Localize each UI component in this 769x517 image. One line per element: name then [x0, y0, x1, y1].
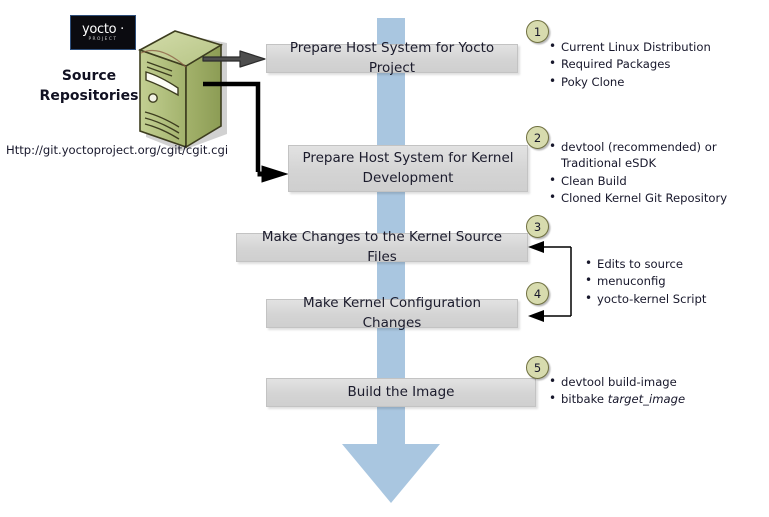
note-item: yocto-kernel Script: [585, 291, 769, 307]
note-item: Edits to source: [585, 256, 769, 272]
step-number-badge-1: 1: [526, 20, 549, 43]
source-repositories-label: Source Repositories: [34, 66, 144, 107]
note-item: bitbake target_image: [549, 391, 769, 407]
notes-list-step-2: devtool (recommended) or Traditional eSD…: [549, 139, 769, 208]
note-item: Poky Clone: [549, 74, 769, 90]
note-item: devtool (recommended) or Traditional eSD…: [549, 139, 769, 172]
workflow-arrowhead: [342, 444, 440, 503]
notes-list-step-1: Current Linux DistributionRequired Packa…: [549, 39, 769, 91]
process-box-step-4[interactable]: Make Kernel Configuration Changes: [266, 299, 518, 328]
yocto-logo-subtext: PROJECT: [88, 38, 117, 42]
note-item-emphasis: target_image: [608, 392, 685, 406]
note-item: Cloned Kernel Git Repository: [549, 190, 769, 206]
step-number-badge-5: 5: [526, 356, 549, 379]
process-box-step-1[interactable]: Prepare Host System for Yocto Project: [266, 44, 518, 73]
note-item: devtool build-image: [549, 374, 769, 390]
yocto-project-logo: yocto · PROJECT: [70, 15, 136, 50]
notes-list-step-5: devtool build-imagebitbake target_image: [549, 374, 769, 409]
note-item: Clean Build: [549, 173, 769, 189]
note-item: menuconfig: [585, 273, 769, 289]
process-box-step-3[interactable]: Make Changes to the Kernel Source Files: [236, 233, 528, 262]
source-label-line2: Repositories: [34, 86, 144, 106]
source-label-line1: Source: [34, 66, 144, 86]
process-box-step-5[interactable]: Build the Image: [266, 378, 536, 407]
source-repositories-url: Http://git.yoctoproject.org/cgit/cgit.cg…: [6, 143, 228, 157]
note-item: Current Linux Distribution: [549, 39, 769, 55]
yocto-logo-wordmark: yocto ·: [82, 23, 124, 36]
step-number-badge-3: 3: [526, 215, 549, 238]
step-number-badge-4: 4: [526, 282, 549, 305]
notes-list-steps-3-4: Edits to sourcemenuconfigyocto-kernel Sc…: [585, 256, 769, 308]
process-box-step-2[interactable]: Prepare Host System for Kernel Developme…: [288, 145, 528, 192]
server-tower-icon: [140, 31, 227, 151]
step-number-badge-2: 2: [526, 126, 549, 149]
note-item: Required Packages: [549, 56, 769, 72]
